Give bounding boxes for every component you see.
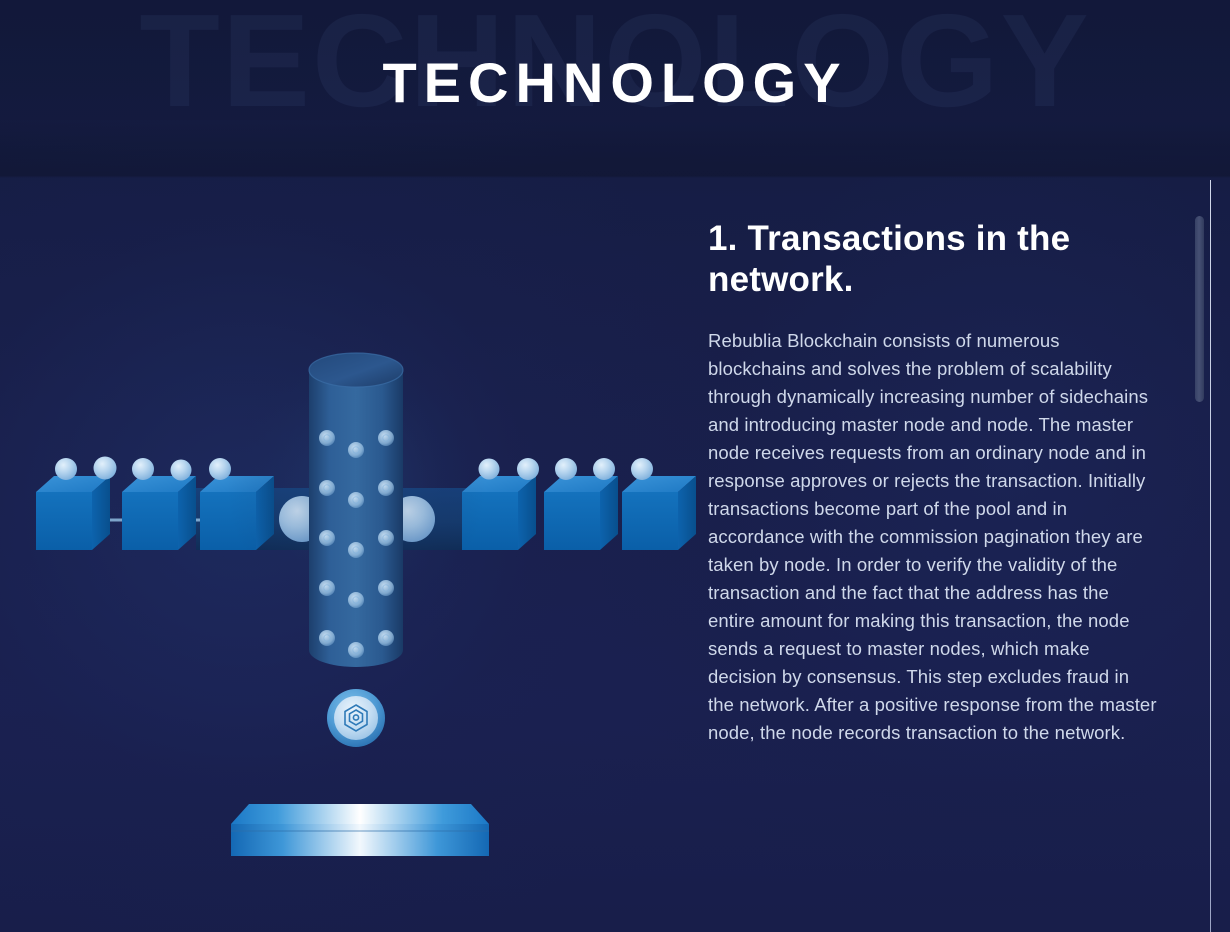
- content-column: 1. Transactions in the network. Rebublia…: [708, 218, 1160, 747]
- cylinder-dot: [348, 642, 364, 658]
- panel-edge-divider: [1210, 180, 1211, 932]
- cylinder-dot: [319, 580, 335, 596]
- cylinder-dot: [348, 492, 364, 508]
- hexagon-badge: [327, 689, 385, 747]
- small-sphere: [555, 458, 577, 480]
- cylinder-dot: [319, 630, 335, 646]
- node-cube: [622, 476, 696, 550]
- cylinder-dot: [319, 480, 335, 496]
- slab-front: [231, 824, 489, 856]
- page-header: TECHNOLOGY TECHNOLOGY: [0, 0, 1230, 176]
- node-cube: [544, 476, 618, 550]
- page-title: TECHNOLOGY: [0, 52, 1230, 114]
- cylinder-dot: [348, 542, 364, 558]
- section-heading: 1. Transactions in the network.: [708, 218, 1160, 301]
- small-sphere: [171, 460, 192, 481]
- cylinder-dot: [348, 442, 364, 458]
- cylinder-dot: [319, 430, 335, 446]
- slab-top: [231, 804, 489, 824]
- small-sphere: [94, 457, 117, 480]
- node-cube: [36, 476, 110, 550]
- blockchain-illustration: [0, 200, 700, 900]
- small-sphere: [517, 458, 539, 480]
- scrollbar-thumb[interactable]: [1195, 216, 1204, 402]
- node-cube: [122, 476, 196, 550]
- small-sphere: [55, 458, 77, 480]
- data-cylinder-group: [226, 330, 486, 667]
- cylinder-dot: [378, 580, 394, 596]
- cylinder-dot: [348, 592, 364, 608]
- cylinder-dot: [378, 430, 394, 446]
- page-stage: TECHNOLOGY TECHNOLOGY: [0, 0, 1230, 932]
- small-sphere: [593, 458, 615, 480]
- badge-inner-disc: [334, 696, 378, 740]
- platform-slab: [231, 804, 489, 856]
- small-sphere: [631, 458, 653, 480]
- cylinder-dot: [378, 480, 394, 496]
- section-body-text: Rebublia Blockchain consists of numerous…: [708, 327, 1160, 747]
- cylinder-dot: [319, 530, 335, 546]
- small-sphere: [132, 458, 154, 480]
- cylinder-dot: [378, 630, 394, 646]
- cylinder-body: [309, 370, 403, 667]
- cylinder-dot: [378, 530, 394, 546]
